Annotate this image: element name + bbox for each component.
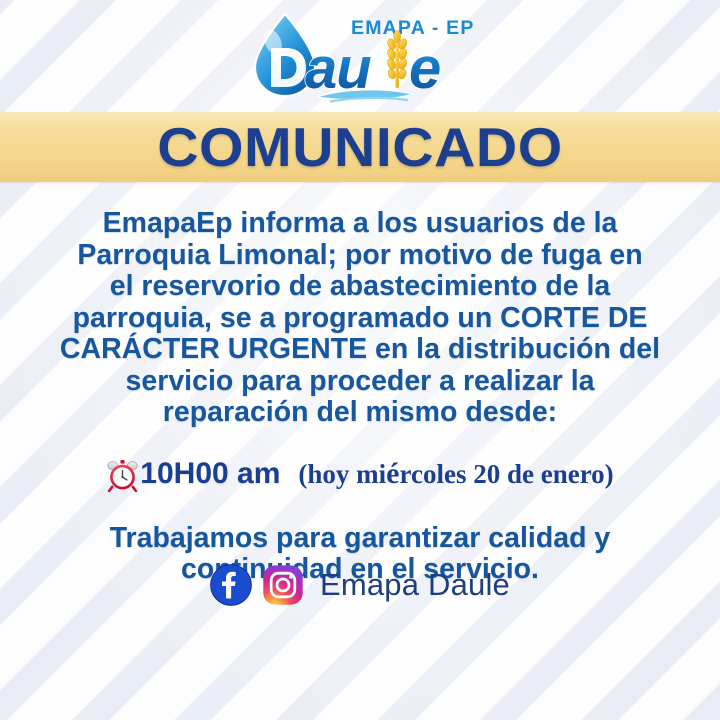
- facebook-icon[interactable]: [210, 564, 252, 606]
- svg-text:e: e: [409, 36, 441, 101]
- announcement-body: EmapaEp informa a los usuarios de la Par…: [0, 208, 720, 429]
- body-line: reparación del mismo desde:: [22, 397, 698, 429]
- cut-date-accent: é: [386, 457, 399, 490]
- instagram-icon[interactable]: [262, 564, 304, 606]
- social-handle[interactable]: Emapa Daule: [320, 569, 510, 600]
- cut-date-prefix: (hoy mi: [298, 459, 386, 489]
- logo-area: EMAPA - EP au e: [0, 0, 720, 112]
- body-line: EmapaEp informa a los usuarios de la: [22, 208, 698, 240]
- schedule-row: 10H00 am (hoy miércoles 20 de enero): [0, 458, 720, 491]
- body-line: el reservorio de abastecimiento de la: [22, 271, 698, 303]
- body-line: servicio para proceder a realizar la: [22, 366, 698, 398]
- cut-time: 10H00 am: [140, 459, 280, 489]
- comunicado-poster: EMAPA - EP au e: [0, 0, 720, 720]
- emapa-daule-logo: EMAPA - EP au e: [245, 8, 475, 104]
- body-line: CARÁCTER URGENTE en la distribución del: [22, 334, 698, 366]
- cut-date-suffix: rcoles 20 de enero): [399, 459, 613, 489]
- comunicado-banner: COMUNICADO: [0, 112, 720, 182]
- body-line: Parroquia Limonal; por motivo de fuga en: [22, 240, 698, 272]
- social-footer: Emapa Daule: [0, 564, 720, 606]
- alarm-clock-icon: [106, 459, 139, 492]
- page-title: COMUNICADO: [157, 120, 563, 175]
- logo-graphic: EMAPA - EP au e: [245, 8, 475, 104]
- closing-line: Trabajamos para garantizar calidad y: [0, 523, 720, 555]
- body-line: parroquia, se a programado un CORTE DE: [22, 303, 698, 335]
- cut-date-note: (hoy miércoles 20 de enero): [298, 459, 613, 489]
- wheat-stalk-icon: [386, 30, 408, 88]
